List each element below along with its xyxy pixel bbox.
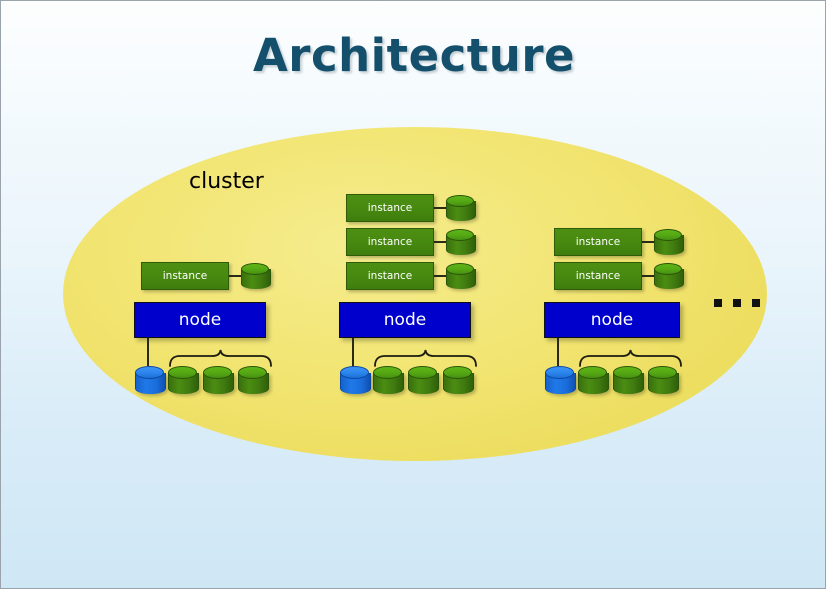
instance-box[interactable]: instance	[346, 262, 434, 290]
cluster-boundary	[63, 127, 767, 461]
node-storage-connector	[557, 338, 559, 366]
node-box[interactable]: node	[134, 302, 266, 338]
node-primary-cylinder	[135, 366, 164, 394]
instance-storage-cylinder	[446, 229, 474, 255]
page-title: Architecture	[1, 29, 826, 82]
cylinder-top	[340, 366, 369, 379]
cylinder-top	[446, 229, 474, 241]
node-storage-connector	[147, 338, 149, 366]
cylinder-top	[446, 195, 474, 207]
instance-storage-cylinder	[654, 229, 682, 255]
instance-box[interactable]: instance	[554, 262, 642, 290]
instance-box[interactable]: instance	[346, 228, 434, 256]
instance-connector	[434, 241, 446, 243]
cylinder-top	[613, 366, 642, 379]
node-data-cylinder	[238, 366, 267, 394]
node-data-cylinder	[203, 366, 232, 394]
cluster-label: cluster	[189, 169, 264, 194]
storage-group-brace	[578, 349, 683, 367]
node-primary-cylinder	[340, 366, 369, 394]
cylinder-top	[373, 366, 402, 379]
node-data-cylinder	[648, 366, 677, 394]
cylinder-top	[654, 229, 682, 241]
node-data-cylinder	[373, 366, 402, 394]
instance-storage-cylinder	[654, 263, 682, 289]
cylinder-top	[241, 263, 269, 275]
instance-connector	[229, 275, 241, 277]
cylinder-top	[168, 366, 197, 379]
ellipsis-dot	[714, 299, 722, 307]
node-primary-cylinder	[545, 366, 574, 394]
cylinder-top	[578, 366, 607, 379]
instance-box[interactable]: instance	[554, 228, 642, 256]
instance-storage-cylinder	[446, 195, 474, 221]
instance-connector	[434, 275, 446, 277]
instance-box[interactable]: instance	[346, 194, 434, 222]
slide-canvas: Architecture cluster instance node	[0, 0, 826, 589]
cylinder-top	[545, 366, 574, 379]
instance-connector	[434, 207, 446, 209]
node-box[interactable]: node	[544, 302, 680, 338]
instance-storage-cylinder	[446, 263, 474, 289]
cylinder-top	[446, 263, 474, 275]
node-storage-connector	[352, 338, 354, 366]
ellipsis-dot	[733, 299, 741, 307]
node-data-cylinder	[443, 366, 472, 394]
node-data-cylinder	[408, 366, 437, 394]
cylinder-top	[135, 366, 164, 379]
storage-group-brace	[168, 349, 273, 367]
instance-connector	[642, 275, 654, 277]
cylinder-top	[238, 366, 267, 379]
ellipsis-dot	[752, 299, 760, 307]
instance-connector	[642, 241, 654, 243]
cylinder-top	[203, 366, 232, 379]
storage-group-brace	[373, 349, 478, 367]
node-box[interactable]: node	[339, 302, 471, 338]
node-data-cylinder	[613, 366, 642, 394]
cylinder-top	[654, 263, 682, 275]
node-data-cylinder	[578, 366, 607, 394]
more-nodes-ellipsis	[714, 299, 760, 307]
instance-storage-cylinder	[241, 263, 269, 289]
cylinder-top	[443, 366, 472, 379]
node-data-cylinder	[168, 366, 197, 394]
instance-box[interactable]: instance	[141, 262, 229, 290]
cylinder-top	[408, 366, 437, 379]
cylinder-top	[648, 366, 677, 379]
